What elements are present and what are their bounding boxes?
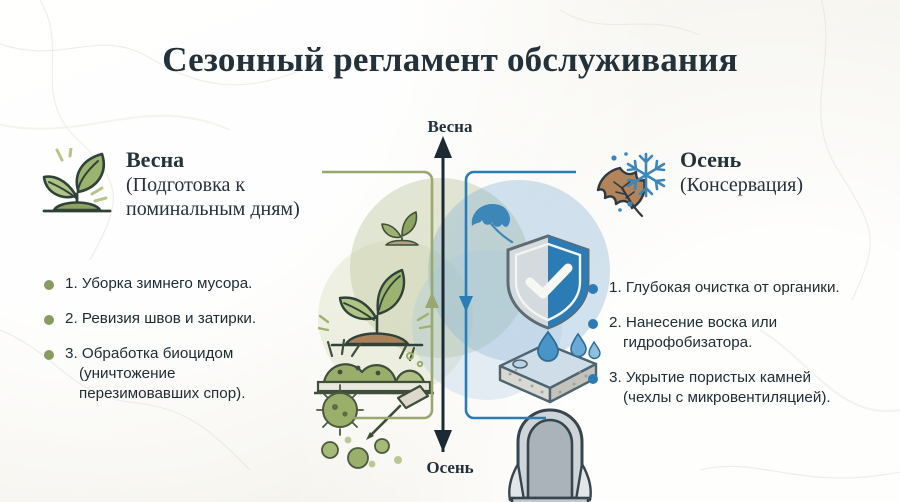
list-item: 2. Ревизия швов и затирки. (44, 309, 344, 329)
spring-subtitle-line1: (Подготовка к (126, 173, 300, 197)
list-item-text: 3. Обработка биоцидом (уничтожение перез… (65, 344, 245, 404)
bullet-dot (44, 315, 54, 325)
autumn-task-list: 1. Глубокая очистка от органики. 2. Нане… (588, 278, 888, 423)
list-item: 1. Уборка зимнего мусора. (44, 274, 344, 294)
bullet-dot (44, 280, 54, 290)
list-item-text: 1. Глубокая очистка от органики. (609, 278, 840, 298)
spring-subtitle-line2: поминальным дням) (126, 197, 300, 221)
list-item: 3. Обработка биоцидом (уничтожение перез… (44, 344, 344, 404)
infographic-canvas: Сезонный регламент обслуживания Весна Ос… (0, 0, 900, 502)
bullet-dot (588, 374, 598, 384)
list-item-line2: (чехлы с микровентиляцией). (609, 388, 831, 408)
list-item-line1: 3. Укрытие пористых камней (609, 369, 811, 386)
list-item-line3: перезимовавших спор). (65, 384, 245, 404)
list-item-text: 1. Уборка зимнего мусора. (65, 274, 252, 294)
spring-header: Весна (Подготовка к поминальным дням) (40, 148, 370, 221)
spring-season-label: Весна (126, 148, 300, 173)
sprout-icon (40, 148, 114, 218)
spring-header-text: Весна (Подготовка к поминальным дням) (126, 148, 300, 221)
bullet-dot (44, 350, 54, 360)
list-item-text: 3. Укрытие пористых камней (чехлы с микр… (609, 368, 831, 408)
small-sprout-icon (372, 202, 432, 250)
autumn-header: Осень (Консервация) (592, 148, 892, 218)
bullet-dot (588, 284, 598, 294)
list-item-text: 2. Ревизия швов и затирки. (65, 309, 256, 329)
list-item-line1: 1. Уборка зимнего мусора. (65, 275, 252, 292)
autumn-subtitle-line1: (Консервация) (680, 173, 803, 197)
bullet-dot (588, 319, 598, 329)
list-item-line1: 2. Нанесение воска или (609, 314, 777, 331)
list-item-line2: гидрофобизатора. (609, 333, 777, 353)
page-title: Сезонный регламент обслуживания (0, 40, 900, 80)
list-item: 1. Глубокая очистка от органики. (588, 278, 888, 298)
list-item-text: 2. Нанесение воска или гидрофобизатора. (609, 313, 777, 353)
spring-task-list: 1. Уборка зимнего мусора. 2. Ревизия шво… (44, 274, 344, 419)
list-item: 2. Нанесение воска или гидрофобизатора. (588, 313, 888, 353)
list-item-line1: 1. Глубокая очистка от органики. (609, 279, 840, 296)
autumn-season-label: Осень (680, 148, 803, 173)
list-item-line1: 3. Обработка биоцидом (65, 345, 233, 362)
list-item-line1: 2. Ревизия швов и затирки. (65, 310, 256, 327)
autumn-header-text: Осень (Консервация) (680, 148, 803, 197)
leaf-snowflake-icon (592, 148, 668, 218)
list-item: 3. Укрытие пористых камней (чехлы с микр… (588, 368, 888, 408)
list-item-line2: (уничтожение (65, 364, 245, 384)
